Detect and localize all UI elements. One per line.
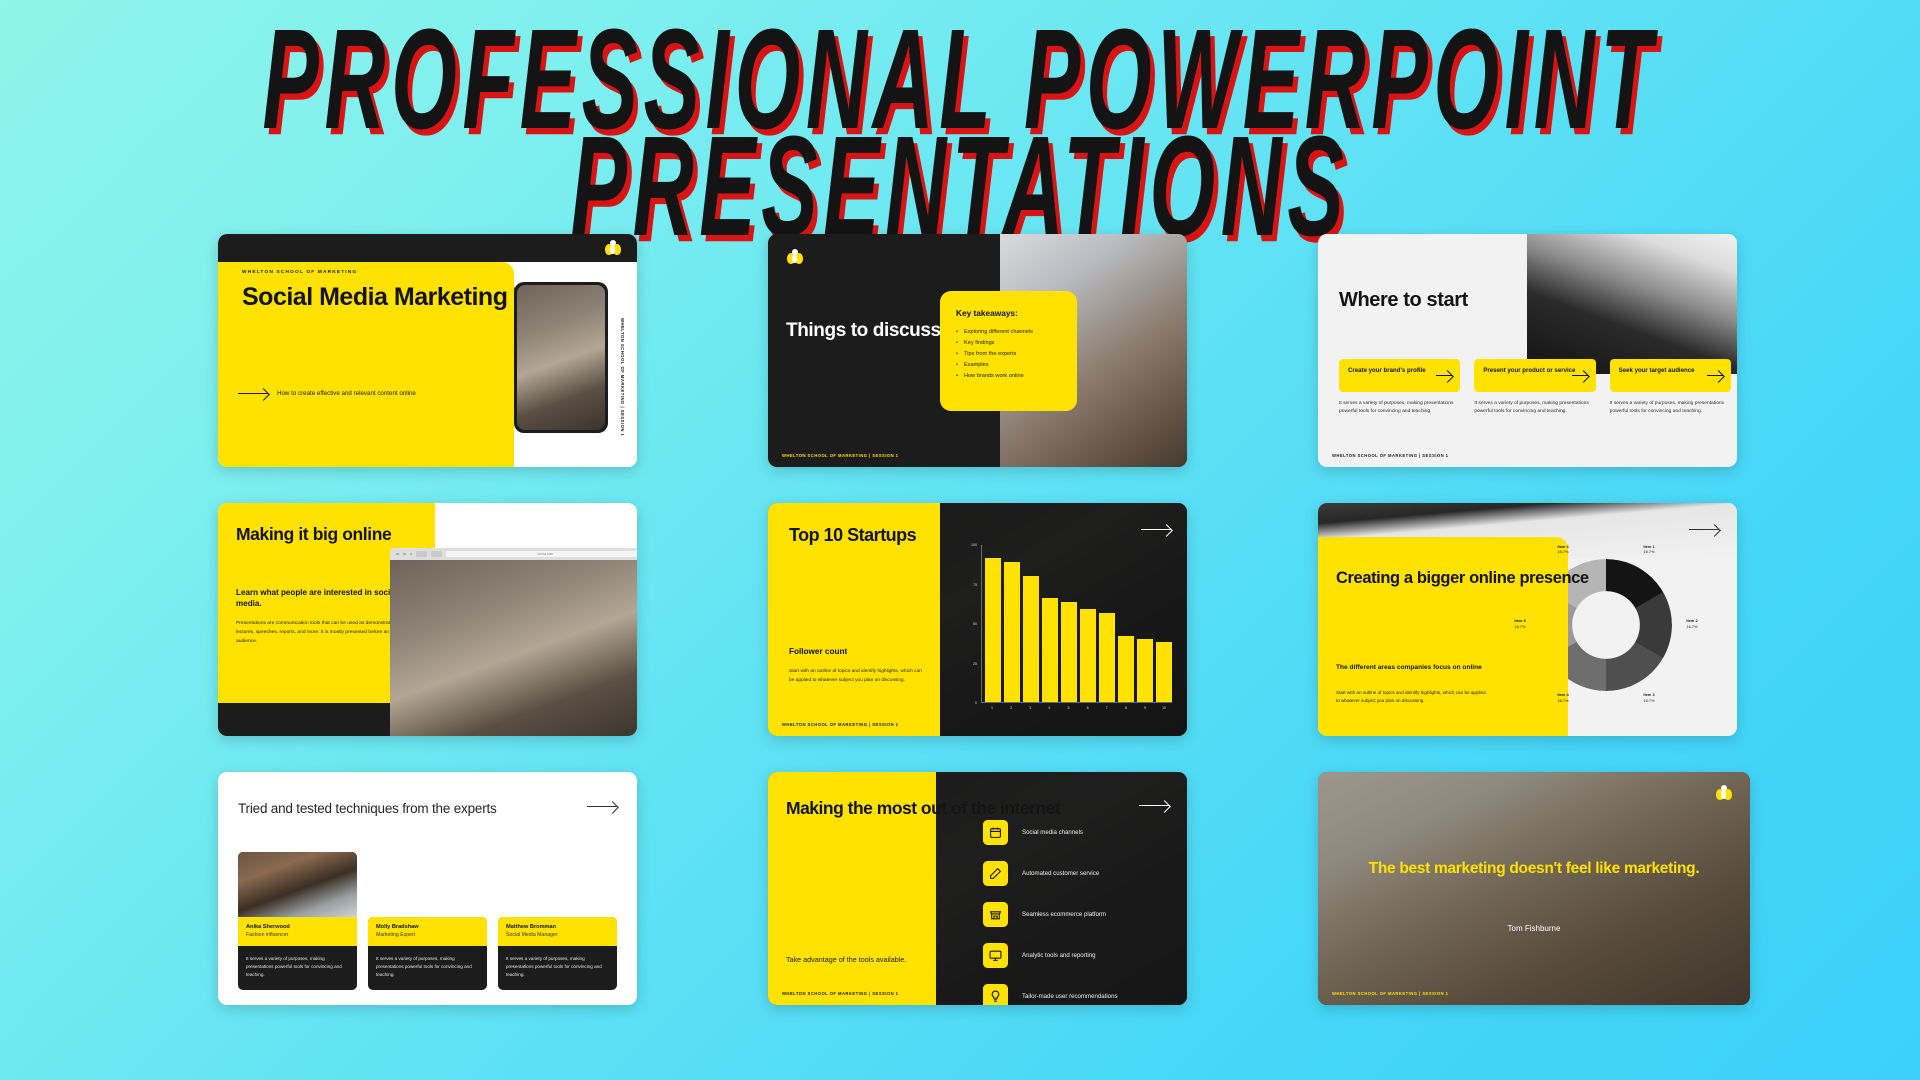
slide2-bullet-list: Exploring different channels Key finding… <box>956 327 1061 382</box>
slide7-person-body: It serves a variety of purposes, making … <box>238 946 357 990</box>
donut-chart-label: Item 116.7% <box>1627 544 1671 555</box>
slide5-subtitle: Follower count <box>789 647 847 656</box>
slide3-column-body: It serves a variety of purposes, making … <box>1610 400 1731 417</box>
bar-chart-bar <box>1156 642 1172 702</box>
bar-chart-y-tick: 25 <box>973 662 977 666</box>
list-item: Analytic tools and reporting <box>983 943 1118 968</box>
slide-thumbnail-experts[interactable]: Tried and tested techniques from the exp… <box>218 772 637 1005</box>
bar-chart: 0255075100 12345678910 <box>964 545 1172 717</box>
slide7-person-name-block: Anika Sherwood Fashion influencer <box>238 917 357 946</box>
slide8-item-label: Automated customer service <box>1022 870 1099 877</box>
list-item: Exploring different channels <box>956 327 1061 338</box>
slide7-person-role: Fashion influencer <box>246 932 349 938</box>
bar-chart-bar <box>1042 598 1058 702</box>
browser-tabs-icon[interactable] <box>431 551 442 557</box>
slide-thumbnail-making-it-big[interactable]: Making it big online Learn what people a… <box>218 503 637 736</box>
bar-chart-x-tick: 8 <box>1118 703 1134 717</box>
browser-url-bar[interactable]: canva.com <box>446 551 637 558</box>
slide3-column: Seek your target audience It serves a va… <box>1610 359 1731 417</box>
slide8-item-label: Social media channels <box>1022 829 1083 836</box>
bar-chart-bar <box>1099 613 1115 702</box>
slide3-title: Where to start <box>1339 289 1468 311</box>
slide-thumbnail-most-out-of-internet[interactable]: Making the most out of the internet Take… <box>768 772 1187 1005</box>
slide9-quote: The best marketing doesn't feel like mar… <box>1318 860 1750 879</box>
calendar-icon <box>983 820 1008 845</box>
bar-chart-x-tick: 9 <box>1137 703 1153 717</box>
list-item[interactable]: Anika Sherwood Fashion influencer It ser… <box>238 852 357 990</box>
slide3-photo <box>1527 234 1737 374</box>
list-item[interactable]: Molly Bradshaw Marketing Expert It serve… <box>368 917 487 990</box>
slide3-pill-heading: Seek your target audience <box>1619 367 1722 375</box>
slide7-person-body: It serves a variety of purposes, making … <box>368 946 487 990</box>
list-item: How brands work online <box>956 371 1061 382</box>
slide3-pill[interactable]: Present your product or service <box>1474 359 1595 392</box>
browser-dot-icon <box>410 553 413 556</box>
whelton-logo-icon <box>1715 785 1732 800</box>
list-item: Automated customer service <box>983 861 1118 886</box>
slide4-title: Making it big online <box>236 525 391 545</box>
slide-thumbnail-online-presence[interactable]: Creating a bigger online presence The di… <box>1318 503 1737 736</box>
slide3-columns: Create your brand's profile It serves a … <box>1339 359 1731 417</box>
bar-chart-bar <box>1023 576 1039 702</box>
slide8-item-label: Tailor-made user recommendations <box>1022 993 1118 1000</box>
list-item: Examples <box>956 360 1061 371</box>
arrow-right-icon <box>1707 375 1723 377</box>
slide7-person-name-block: Molly Bradshaw Marketing Expert <box>368 917 487 946</box>
slide1-vertical-tag: WHELTON SCHOOL OF MARKETING | SESSION 1 <box>620 318 625 436</box>
arrow-right-icon[interactable] <box>587 806 617 808</box>
list-item: Seamless ecommerce platform <box>983 902 1118 927</box>
page-title: PROFESSIONAL POWERPOINT PRESENTATIONS <box>0 18 1920 232</box>
slide-thumbnail-where-to-start[interactable]: Where to start Create your brand's profi… <box>1318 234 1737 467</box>
slide8-item-label: Seamless ecommerce platform <box>1022 911 1106 918</box>
bar-chart-x-tick: 10 <box>1156 703 1172 717</box>
slide3-column-body: It serves a variety of purposes, making … <box>1474 400 1595 417</box>
slide-thumbnail-quote[interactable]: The best marketing doesn't feel like mar… <box>1318 772 1750 1005</box>
slide-thumbnail-top-10-startups[interactable]: Top 10 Startups Follower count Start wit… <box>768 503 1187 736</box>
slide6-body: Start with an outline of topics and iden… <box>1336 689 1486 706</box>
slide6-yellow-panel <box>1318 537 1568 736</box>
bar-chart-y-tick: 0 <box>975 701 977 705</box>
bar-chart-y-tick: 50 <box>973 622 977 626</box>
slide7-title: Tried and tested techniques from the exp… <box>238 800 497 817</box>
bar-chart-bar <box>1137 639 1153 702</box>
slide6-title: Creating a bigger online presence <box>1336 569 1589 588</box>
slide7-person-role: Social Media Manager <box>506 932 609 938</box>
slide2-card-heading: Key takeaways: <box>956 308 1061 318</box>
bar-chart-bar <box>1061 602 1077 702</box>
list-item[interactable]: Matthew Bromman Social Media Manager It … <box>498 917 617 990</box>
slide1-topbar <box>218 234 637 262</box>
browser-nav-icon[interactable] <box>416 551 427 557</box>
arrow-right-icon <box>1436 375 1452 377</box>
slide4-browser-mockup: canva.com <box>390 548 637 736</box>
slide7-person-name-block: Matthew Bromman Social Media Manager <box>498 917 617 946</box>
donut-chart-label: Item 616.7% <box>1541 544 1585 555</box>
donut-chart-label: Item 516.7% <box>1498 618 1542 629</box>
slide3-pill[interactable]: Seek your target audience <box>1610 359 1731 392</box>
slide8-subtitle: Take advantage of the tools available. <box>786 955 926 965</box>
slide2-takeaways-card: Key takeaways: Exploring different chann… <box>940 291 1077 411</box>
slide3-column: Present your product or service It serve… <box>1474 359 1595 417</box>
lightbulb-icon <box>983 984 1008 1005</box>
slide4-browser-chrome: canva.com <box>390 548 637 560</box>
slide7-person-name: Molly Bradshaw <box>376 924 479 930</box>
list-item: Key findings <box>956 338 1061 349</box>
bar-chart-x-tick: 4 <box>1041 703 1057 717</box>
browser-dot-icon <box>396 553 399 556</box>
slide7-people-cards: Anika Sherwood Fashion influencer It ser… <box>238 852 618 990</box>
slide7-person-role: Marketing Expert <box>376 932 479 938</box>
bar-chart-bar <box>1080 609 1096 702</box>
slide5-title: Top 10 Startups <box>789 525 916 545</box>
arrow-right-icon[interactable] <box>1689 529 1719 531</box>
bar-chart-bar <box>1118 636 1134 702</box>
bar-chart-x-tick: 3 <box>1022 703 1038 717</box>
slide2-title: Things to discuss <box>786 320 941 341</box>
slide3-column: Create your brand's profile It serves a … <box>1339 359 1460 417</box>
bar-chart-x-tick: 2 <box>1003 703 1019 717</box>
slide7-person-name: Anika Sherwood <box>246 924 349 930</box>
slide3-pill-heading: Create your brand's profile <box>1348 367 1451 375</box>
bar-chart-bar <box>985 558 1001 702</box>
pencil-icon <box>983 861 1008 886</box>
bar-chart-y-axis: 0255075100 <box>964 545 980 717</box>
slide3-pill[interactable]: Create your brand's profile <box>1339 359 1460 392</box>
monitor-icon <box>983 943 1008 968</box>
slide7-person-name: Matthew Bromman <box>506 924 609 930</box>
arrow-right-icon <box>238 393 268 395</box>
slide6-subtitle: The different areas companies focus on o… <box>1336 663 1486 672</box>
bar-chart-x-tick: 7 <box>1099 703 1115 717</box>
bar-chart-x-tick: 6 <box>1080 703 1096 717</box>
slide8-footer: WHELTON SCHOOL OF MARKETING | SESSION 1 <box>782 991 898 996</box>
donut-chart-label: Item 316.7% <box>1627 692 1671 703</box>
arrow-right-icon[interactable] <box>1141 529 1171 531</box>
slide9-attribution: Tom Fishburne <box>1318 924 1750 933</box>
arrow-right-icon[interactable] <box>1139 805 1169 807</box>
page-title-line-2: PRESENTATIONS <box>77 125 1843 250</box>
slide3-pill-heading: Present your product or service <box>1483 367 1586 375</box>
bar-chart-x-axis: 12345678910 <box>984 703 1172 717</box>
slide4-browser-photo <box>390 560 637 736</box>
store-icon <box>983 902 1008 927</box>
slide3-column-body: It serves a variety of purposes, making … <box>1339 400 1460 417</box>
slide-grid: WHELTON SCHOOL OF MARKETING | SESSION 1 … <box>218 234 1708 1005</box>
browser-dot-icon <box>403 553 406 556</box>
slide9-footer: WHELTON SCHOOL OF MARKETING | SESSION 1 <box>1332 991 1448 996</box>
slide4-subtitle: Learn what people are interested in soci… <box>236 587 411 610</box>
avatar <box>238 852 357 917</box>
bar-chart-plot <box>981 545 1172 703</box>
slide5-footer: WHELTON SCHOOL OF MARKETING | SESSION 1 <box>782 722 898 727</box>
slide-thumbnail-agenda[interactable]: Things to discuss Key takeaways: Explori… <box>768 234 1187 467</box>
slide8-title: Making the most out of the internet <box>786 799 1060 819</box>
slide2-footer: WHELTON SCHOOL OF MARKETING | SESSION 1 <box>782 453 898 458</box>
slide9-photo <box>1318 772 1750 1005</box>
list-item: Tailor-made user recommendations <box>983 984 1118 1005</box>
bar-chart-x-tick: 1 <box>984 703 1000 717</box>
slide5-body: Start with an outline of topics and iden… <box>789 668 924 685</box>
slide1-phone-photo <box>517 285 606 431</box>
bar-chart-bar <box>1004 562 1020 702</box>
donut-chart-label: Item 416.7% <box>1541 692 1585 703</box>
bar-chart-y-tick: 100 <box>971 543 977 547</box>
bar-chart-y-tick: 75 <box>973 583 977 587</box>
slide1-lead: How to create effective and relevant con… <box>277 389 417 398</box>
whelton-logo-icon <box>786 249 803 264</box>
arrow-right-icon <box>1572 375 1588 377</box>
slide4-body: Presentations are communication tools th… <box>236 620 411 647</box>
slide8-item-label: Analytic tools and reporting <box>1022 952 1096 959</box>
bar-chart-x-tick: 5 <box>1061 703 1077 717</box>
whelton-logo-icon <box>604 240 621 255</box>
list-item: Social media channels <box>983 820 1118 845</box>
slide8-feature-list: Social media channels Automated customer… <box>983 820 1118 1005</box>
slide3-footer: WHELTON SCHOOL OF MARKETING | SESSION 1 <box>1332 453 1448 458</box>
slide1-phone-mockup <box>514 282 608 433</box>
slide-thumbnail-title[interactable]: WHELTON SCHOOL OF MARKETING | SESSION 1 … <box>218 234 637 467</box>
slide7-person-body: It serves a variety of purposes, making … <box>498 946 617 990</box>
donut-chart-label: Item 216.7% <box>1670 618 1714 629</box>
list-item: Tips from the experts <box>956 349 1061 360</box>
slide1-eyebrow: WHELTON SCHOOL OF MARKETING <box>242 270 357 275</box>
